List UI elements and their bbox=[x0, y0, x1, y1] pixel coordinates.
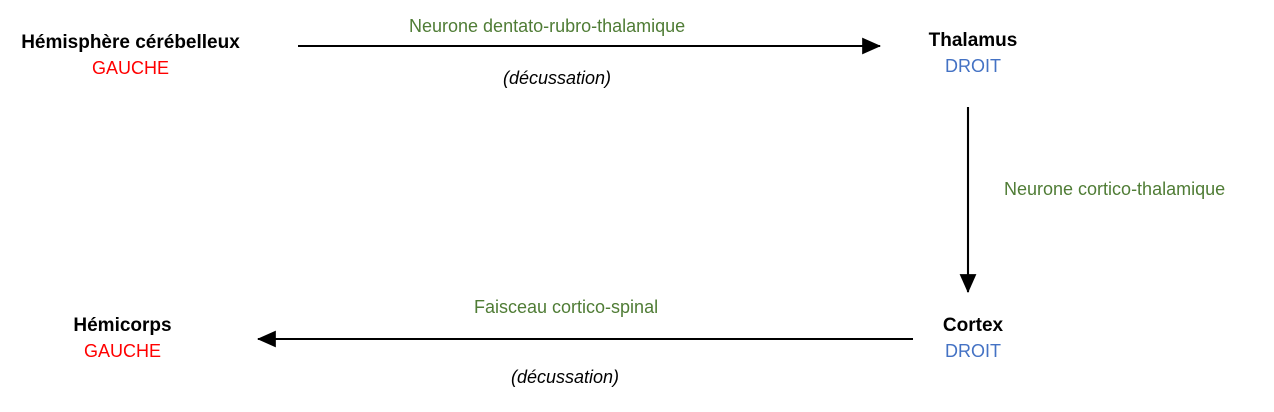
node-thalamus: Thalamus DROIT bbox=[905, 28, 1041, 78]
node-cerebellum-side: GAUCHE bbox=[8, 56, 253, 80]
node-hemicorps-title: Hémicorps bbox=[45, 313, 200, 339]
node-hemicorps-side: GAUCHE bbox=[45, 339, 200, 363]
edge-sublabel-bottom-decussation: (décussation) bbox=[511, 367, 619, 388]
edge-label-cortico-thalamique: Neurone cortico-thalamique bbox=[1004, 179, 1225, 200]
node-cortex-side: DROIT bbox=[905, 339, 1041, 363]
node-thalamus-title: Thalamus bbox=[905, 28, 1041, 54]
node-cortex: Cortex DROIT bbox=[905, 313, 1041, 363]
edge-label-dentato-rubro-thalamique: Neurone dentato-rubro-thalamique bbox=[409, 16, 685, 37]
node-cerebellum: Hémisphère cérébelleux GAUCHE bbox=[8, 30, 253, 80]
pathway-diagram: Hémisphère cérébelleux GAUCHE Thalamus D… bbox=[0, 0, 1274, 412]
node-thalamus-side: DROIT bbox=[905, 54, 1041, 78]
node-hemicorps: Hémicorps GAUCHE bbox=[45, 313, 200, 363]
node-cortex-title: Cortex bbox=[905, 313, 1041, 339]
node-cerebellum-title: Hémisphère cérébelleux bbox=[8, 30, 253, 56]
edge-sublabel-top-decussation: (décussation) bbox=[503, 68, 611, 89]
edge-label-faisceau-cortico-spinal: Faisceau cortico-spinal bbox=[474, 297, 658, 318]
